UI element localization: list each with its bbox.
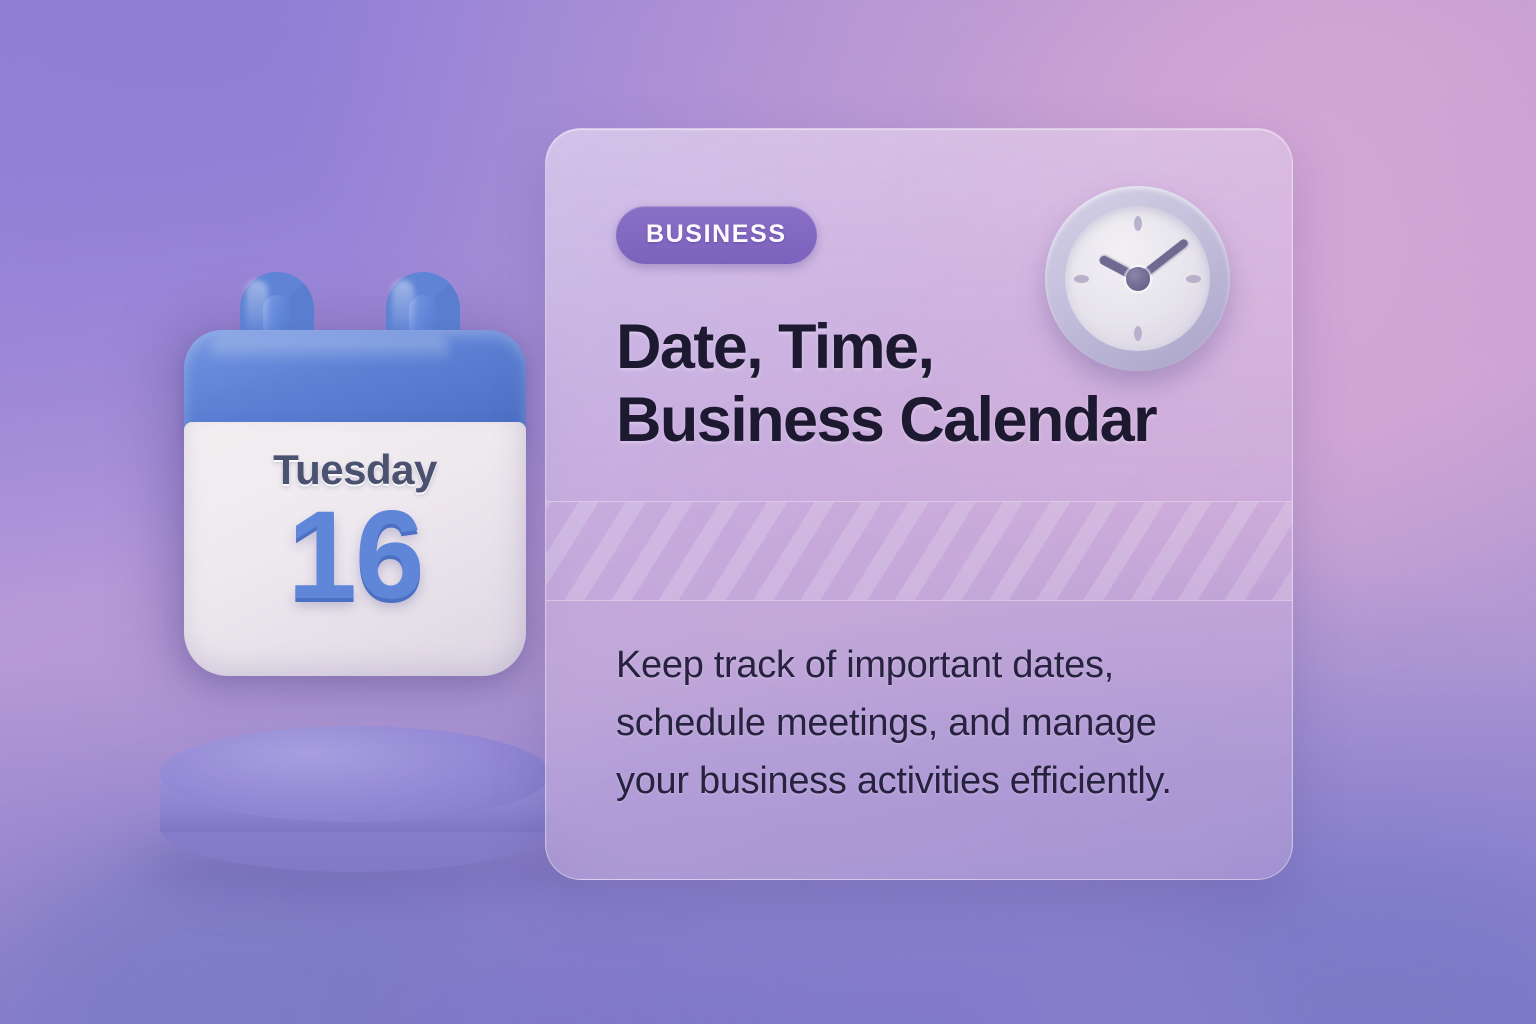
podium-top: [160, 726, 550, 822]
divider-line-bottom: [546, 600, 1292, 601]
card-title-line-2: Business Calendar: [616, 384, 1236, 457]
striped-divider: [546, 501, 1292, 601]
card-description-line-3: your business activities efficiently.: [616, 753, 1256, 811]
calendar-3d-icon: Tuesday 16: [178, 272, 534, 684]
calendar-header-highlight: [210, 338, 450, 364]
card-description-line-1: Keep track of important dates,: [616, 637, 1256, 695]
clock-tick-9: [1074, 275, 1089, 283]
calendar-header-band: [184, 330, 526, 434]
info-card: BUSINESS Date, Time, Business Calendar K…: [545, 128, 1293, 880]
clock-tick-3: [1186, 275, 1201, 283]
poster-canvas: Tuesday 16 BUSINESS Date, Time, Business…: [0, 0, 1536, 1024]
clock-tick-6: [1134, 326, 1142, 341]
analog-clock-icon: [1045, 186, 1230, 371]
calendar-body: Tuesday 16: [184, 422, 526, 676]
clock-center-pin: [1126, 267, 1150, 291]
clock-face: [1065, 206, 1210, 351]
card-description-line-2: schedule meetings, and manage: [616, 695, 1256, 753]
divider-stripes: [546, 502, 1292, 600]
ring-highlight: [246, 280, 268, 336]
calendar-day-number: 16: [287, 490, 422, 621]
clock-tick-12: [1134, 216, 1142, 231]
category-badge[interactable]: BUSINESS: [616, 206, 817, 264]
ring-highlight: [392, 280, 414, 336]
card-description: Keep track of important dates, schedule …: [616, 637, 1256, 810]
podium-platform: [160, 726, 550, 886]
